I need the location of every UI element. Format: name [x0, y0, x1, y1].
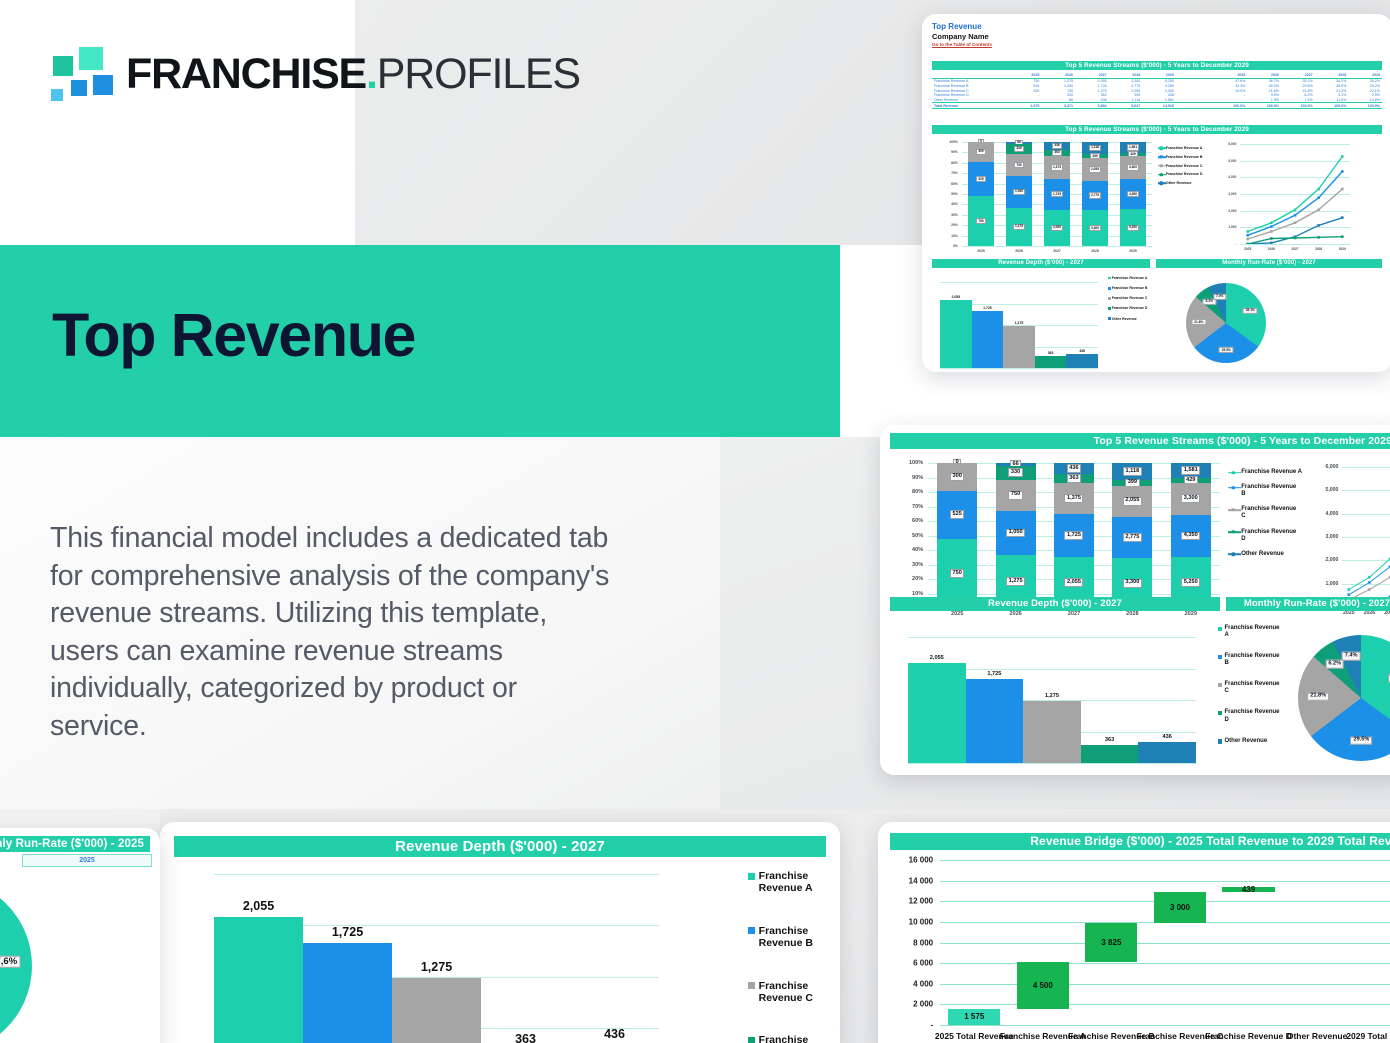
legend-item: Franchise Revenue C — [1108, 296, 1152, 300]
legend-swatch-icon — [1218, 711, 1222, 715]
legend-item: Other Revenue — [1228, 551, 1302, 558]
bar-column: 2,055 — [940, 282, 972, 368]
segment-value-label: 3,300 — [1089, 225, 1102, 231]
x-axis-label: 2027 — [1053, 246, 1061, 253]
stacked-bar-column: 663307501,0501,2752026 — [996, 463, 1036, 608]
bar-value-label: 2,055 — [243, 899, 274, 913]
bar-value-label: 1,725 — [987, 671, 1001, 677]
segment-value-label: 1,725 — [1064, 531, 1083, 540]
legend-label: Franchise Revenue B — [1166, 155, 1203, 159]
bar-value-label: 436 — [1163, 734, 1172, 740]
bar-column: 2,055 — [908, 637, 966, 763]
brand-wordmark: FRANCHISE.PROFILES — [126, 44, 580, 104]
waterfall-bar-value: 1 575 — [948, 1009, 1000, 1025]
segment-value-label: 1,050 — [1013, 189, 1026, 195]
x-axis-label: 2025 — [977, 246, 985, 253]
cell-percent: 100.0% — [1214, 103, 1248, 109]
segment-value-label: 1,118 — [1089, 145, 1102, 151]
legend-item: Franchise Revenue A — [748, 870, 836, 895]
bar-value-label: 1,275 — [1015, 321, 1024, 325]
legend-item: Franchise Revenue D — [1218, 709, 1282, 723]
legend-swatch-icon — [748, 927, 755, 934]
segment-value-label: 436 — [1067, 464, 1081, 473]
waterfall-column: 3 825Franchise Revenue B — [1077, 860, 1146, 1025]
legend-label: Other Revenue — [1112, 317, 1137, 321]
legend-item: Other Revenue — [1158, 181, 1210, 185]
legend-label: Franchise Revenue C — [1224, 681, 1282, 695]
bar-column: 363 — [1035, 282, 1067, 368]
segment-value-label: 2,775 — [1123, 533, 1142, 542]
segment-value-label: 363 — [1067, 474, 1081, 483]
segment-value-label: 363 — [1052, 150, 1062, 156]
legend-label: Franchise Revenue D — [1224, 709, 1282, 723]
revenue-depth-chart-large: 2,0551,7251,275363436 — [214, 874, 659, 1043]
segment-value-label: 750 — [1008, 491, 1022, 500]
pie-slice-label: 35.1% — [1243, 308, 1258, 314]
pie-slice-label: 6.2% — [1325, 660, 1344, 669]
legend-item: Other Revenue — [1218, 738, 1282, 745]
bar-column: 1,275 — [1023, 637, 1081, 763]
segment-value-label: 750 — [950, 569, 964, 578]
pie-slice-label: 21.8% — [1307, 692, 1329, 701]
legend-label: Franchise Revenue D — [1166, 172, 1203, 176]
bar-column: 1,275 — [392, 874, 481, 1043]
runrate-pie-main: 35.1%29.5%21.8%6.2%7.4% — [1288, 627, 1390, 772]
cell-percent: 100.0% — [1348, 103, 1382, 109]
waterfall-x-label: 2029 Total Revenue — [1346, 1025, 1390, 1041]
cell-percent: 100.0% — [1247, 103, 1281, 109]
segment-value-label: 330 — [1014, 146, 1024, 152]
stacked-bar-chart-main: 100%90%80%70%60%50%40%30%20%10%0% 030052… — [928, 463, 1220, 608]
dashboard-title: Top Revenue — [932, 22, 1382, 32]
dashboard-screenshot-card[interactable]: Top Revenue Company Name Go to the Table… — [922, 14, 1390, 372]
legend-swatch-icon — [1108, 287, 1111, 290]
cell-value: 14,919 — [1142, 103, 1176, 109]
bar-value-label: 2,055 — [952, 295, 961, 299]
bar-column: 1,725 — [972, 282, 1004, 368]
background-panel-top-left — [0, 0, 355, 245]
stacked-bar-column: 03005257502025 — [937, 463, 977, 608]
legend-label: Franchise Revenue A — [1112, 276, 1147, 280]
stacked-bar-column: 1,1183992,0552,7753,3002028 — [1082, 142, 1108, 246]
waterfall-bar-value: 3 000 — [1154, 892, 1206, 923]
bar-column: 363 — [481, 874, 570, 1043]
bar-column: 1,275 — [1003, 282, 1035, 368]
revenue-depth-screenshot-card[interactable]: Revenue Depth ($'000) - 2027 2,0551,7251… — [160, 822, 840, 1043]
legend-label: Franchise Revenue C — [759, 980, 836, 1005]
dashboard-caption-runrate: Monthly Run-Rate ($'000) - 2027 — [1156, 259, 1382, 268]
row-label: Total Revenue — [932, 103, 1008, 109]
legend-swatch-icon — [1218, 739, 1222, 743]
brand-name-bold: FRANCHISE — [126, 50, 366, 98]
legend-swatch-icon — [1218, 627, 1222, 631]
legend-item: Franchise Revenue B — [1158, 155, 1210, 159]
bridge-caption: Revenue Bridge ($'000) - 2025 Total Reve… — [890, 833, 1390, 850]
segment-value-label: 750 — [1014, 162, 1024, 168]
bar-column: 363 — [1081, 637, 1139, 763]
legend-marker-icon — [1228, 506, 1241, 513]
waterfall-column: 2029 Total Revenue — [1351, 860, 1390, 1025]
legend-item: Franchise Revenue D — [1228, 529, 1302, 543]
x-axis-label: 2026 — [1015, 246, 1023, 253]
pie-slice-label: 29.5% — [1219, 347, 1234, 353]
segment-value-label: 3,300 — [1181, 494, 1200, 503]
segment-value-label: 1,275 — [1013, 224, 1026, 230]
description-paragraph: This financial model includes a dedicate… — [50, 520, 620, 746]
waterfall-column: 4 500Franchise Revenue A — [1009, 860, 1078, 1025]
stacked-bar-legend-mini: Franchise Revenue AFranchise Revenue BFr… — [1158, 146, 1210, 186]
segment-value-label: 436 — [1052, 143, 1062, 149]
stacked-bar-column: 663307501,0501,2752026 — [1006, 142, 1032, 246]
legend-label: Other Revenue — [1224, 738, 1267, 745]
legend-item: Franchise Revenue A — [1108, 276, 1152, 280]
revenue-bridge-screenshot-card[interactable]: Revenue Bridge ($'000) - 2025 Total Reve… — [878, 822, 1390, 1043]
bar-value-label: 436 — [604, 1027, 625, 1041]
pie-slice-label: 21.8% — [1191, 319, 1206, 325]
waterfall-x-label: Other Revenue — [1287, 1025, 1347, 1041]
legend-marker-icon — [1228, 469, 1241, 476]
pie-caption: Monthly Run-Rate ($'000) - 2025 — [0, 836, 150, 852]
revenue-depth-legend-large: Franchise Revenue AFranchise Revenue BFr… — [748, 870, 836, 1043]
brand-name-dot: . — [366, 50, 377, 98]
runrate-pie-large: 47,6%33,3%19,0%0,0%0,0% — [0, 876, 72, 1043]
segment-value-label: 330 — [1008, 468, 1022, 477]
bar-value-label: 363 — [1048, 351, 1054, 355]
bar-column: 2,055 — [214, 874, 303, 1043]
legend-label: Other Revenue — [1166, 181, 1192, 185]
segment-value-label: 3,300 — [1123, 579, 1142, 588]
page-title: Top Revenue — [52, 305, 415, 366]
legend-item: Franchise Revenue D — [1158, 172, 1210, 176]
waterfall-bar-value: 439 — [1222, 887, 1274, 892]
bar-column: 1,725 — [966, 637, 1024, 763]
segment-value-label: 5,250 — [1127, 225, 1140, 231]
legend-item: Franchise Revenue D — [748, 1034, 836, 1043]
legend-swatch-icon — [1218, 655, 1222, 659]
dashboard-caption-streams-chart: Top 5 Revenue Streams ($'000) - 5 Years … — [932, 125, 1382, 134]
legend-label: Franchise Revenue C — [1112, 296, 1148, 300]
legend-label: Franchise Revenue D — [759, 1034, 836, 1043]
waterfall-bar-value: 3 825 — [1085, 923, 1137, 962]
legend-item: Franchise Revenue C — [748, 980, 836, 1005]
cell-percent: 100.0% — [1281, 103, 1315, 109]
depth-caption: Revenue Depth ($'000) - 2027 — [174, 836, 826, 857]
legend-label: Franchise Revenue A — [1224, 625, 1282, 639]
waterfall-column: 3 000Franchise Revenue C — [1146, 860, 1215, 1025]
line-chart-mini: 6,0005,0004,0003,0002,0001,000-202520262… — [1240, 144, 1350, 244]
legend-item: Franchise Revenue A — [1228, 469, 1302, 476]
stacked-bar-chart-mini: 100%90%80%70%60%50%40%30%20%10%0% 030052… — [962, 142, 1152, 246]
revenue-bridge-chart: 16 00014 00012 00010 0008 0006 0004 0002… — [940, 860, 1390, 1025]
legend-swatch-icon — [748, 873, 755, 880]
revenue-depth-chart-main: 2,0551,7251,275363436 — [908, 637, 1196, 763]
legend-swatch-icon — [1108, 297, 1111, 300]
segment-value-label: 5,250 — [1181, 578, 1200, 587]
segment-value-label: 1,581 — [1181, 466, 1200, 475]
bar-value-label: 436 — [1079, 349, 1085, 353]
x-axis-label: 2029 — [1129, 246, 1137, 253]
table-row: Total Revenue1,5753,4715,8549,64714,9191… — [932, 103, 1382, 109]
pie-slice-label: 29.5% — [1350, 737, 1372, 746]
segment-value-label: 300 — [976, 149, 986, 155]
dashboard-caption-streams-table: Top 5 Revenue Streams ($'000) - 5 Years … — [932, 61, 1382, 70]
revenue-depth-chart-mini: 2,0551,7251,275363436 — [940, 282, 1098, 368]
legend-swatch-icon — [1108, 277, 1111, 280]
legend-item: Franchise Revenue C — [1158, 164, 1210, 168]
pie-slice-label: 7.4% — [1213, 293, 1226, 299]
legend-marker-icon — [1228, 529, 1241, 536]
bar-column: 436 — [1066, 282, 1098, 368]
legend-item: Franchise Revenue C — [1218, 681, 1282, 695]
x-axis-label: 2028 — [1091, 246, 1099, 253]
mid-caption-depth: Revenue Depth ($'000) - 2027 — [890, 597, 1220, 611]
legend-marker-icon — [1158, 164, 1166, 168]
legend-marker-icon — [1228, 551, 1241, 558]
bar-column: 1,725 — [303, 874, 392, 1043]
legend-item: Other Revenue — [1108, 317, 1152, 321]
stacked-bar-column: 4363631,3751,7252,0552027 — [1044, 142, 1070, 246]
mid-caption-streams: Top 5 Revenue Streams ($'000) - 5 Years … — [890, 433, 1390, 449]
segment-value-label: 2,775 — [1089, 192, 1102, 198]
revenue-depth-legend-mini: Franchise Revenue AFranchise Revenue BFr… — [1108, 276, 1152, 321]
bar-value-label: 1,725 — [983, 306, 992, 310]
brand-name-thin: PROFILES — [377, 50, 580, 98]
legend-marker-icon — [1158, 146, 1166, 150]
waterfall-column: 1 5752025 Total Revenue — [940, 860, 1009, 1025]
legend-label: Other Revenue — [1241, 551, 1284, 558]
stacked-bar-column: 4363631,3751,7252,0552027 — [1054, 463, 1094, 608]
legend-marker-icon — [1158, 181, 1166, 185]
legend-item: Franchise Revenue B — [748, 925, 836, 950]
legend-label: Franchise Revenue B — [1112, 286, 1148, 290]
pie-slice-label: 7.4% — [1342, 652, 1361, 661]
legend-label: Franchise Revenue A — [759, 870, 836, 895]
segment-value-label: 2,055 — [1089, 166, 1102, 172]
bar-column: 436 — [1138, 637, 1196, 763]
mid-caption-runrate: Monthly Run-Rate ($'000) - 2027 — [1226, 597, 1390, 611]
segment-value-label: 2,055 — [1064, 578, 1083, 587]
legend-item: Franchise Revenue C — [1228, 506, 1302, 520]
legend-label: Franchise Revenue C — [1166, 164, 1203, 168]
stacked-bar-column: 1,1183992,0552,7753,3002028 — [1112, 463, 1152, 608]
legend-swatch-icon — [1108, 307, 1111, 310]
revenue-depth-legend-main: Franchise Revenue AFranchise Revenue BFr… — [1218, 625, 1282, 745]
segment-value-label: 1,275 — [1006, 577, 1025, 586]
brand-logo: FRANCHISE.PROFILES — [48, 44, 538, 106]
legend-label: Franchise Revenue B — [1224, 653, 1282, 667]
waterfall-column: Other Revenue — [1283, 860, 1352, 1025]
dashboard-caption-depth: Revenue Depth ($'000) - 2027 — [932, 259, 1150, 268]
legend-item: Franchise Revenue B — [1218, 653, 1282, 667]
segment-value-label: 2,055 — [1051, 225, 1064, 231]
waterfall-bar-value: 4 500 — [1017, 962, 1069, 1008]
bar-value-label: 363 — [515, 1032, 536, 1043]
legend-label: Franchise Revenue B — [1241, 484, 1302, 498]
segment-value-label: 300 — [950, 473, 964, 482]
revenue-streams-table: 2025 2026 2027 2028 2029 2025 2026 2027 … — [932, 73, 1382, 121]
segment-value-label: 1,118 — [1123, 467, 1142, 476]
legend-label: Franchise Revenue A — [1166, 146, 1202, 150]
segment-value-label: 1,375 — [1051, 164, 1064, 170]
bar-value-label: 1,275 — [1045, 693, 1059, 699]
cell-value: 9,647 — [1109, 103, 1143, 109]
dashboard-subtitle: Company Name — [932, 32, 1382, 41]
runrate-pie-mini: 35.1%29.5%21.8%6.2%7.4% — [1174, 280, 1276, 366]
logo-mark-icon — [48, 46, 114, 104]
legend-marker-icon — [1158, 155, 1166, 159]
legend-label: Franchise Revenue C — [1241, 506, 1302, 520]
legend-item: Franchise Revenue B — [1228, 484, 1302, 498]
legend-label: Franchise Revenue A — [1241, 469, 1302, 476]
stacked-chart-screenshot-card[interactable]: Top 5 Revenue Streams ($'000) - 5 Years … — [880, 425, 1390, 775]
segment-value-label: 2,055 — [1123, 497, 1142, 506]
legend-label: Franchise Revenue D — [1241, 529, 1302, 543]
segment-value-label: 1,725 — [1051, 191, 1064, 197]
legend-swatch-icon — [1218, 683, 1222, 687]
bar-value-label: 2,055 — [930, 655, 944, 661]
legend-item: Franchise Revenue B — [1108, 286, 1152, 290]
legend-marker-icon — [1228, 484, 1241, 491]
stacked-bar-column: 1,5814293,3004,3505,2502029 — [1171, 463, 1211, 608]
legend-swatch-icon — [1108, 317, 1111, 320]
runrate-pie-screenshot-card[interactable]: Monthly Run-Rate ($'000) - 2025 2025 47,… — [0, 828, 160, 1043]
waterfall-column: 439Franchise Revenue D — [1214, 860, 1283, 1025]
pie-slice-label: 47,6% — [0, 955, 20, 968]
segment-value-label: 1,375 — [1064, 494, 1083, 503]
stacked-bar-column: 1,5814293,3004,3505,2502029 — [1120, 142, 1146, 246]
segment-value-label: 1,581 — [1127, 144, 1140, 150]
cell-value: 1,575 — [1008, 103, 1042, 109]
bar-column: 436 — [570, 874, 659, 1043]
segment-value-label: 4,350 — [1181, 532, 1200, 541]
legend-item: Franchise Revenue A — [1218, 625, 1282, 639]
dashboard-toc-link[interactable]: Go to the Table of Contents — [932, 41, 1382, 48]
cell-value: 3,471 — [1041, 103, 1075, 109]
legend-label: Franchise Revenue D — [1112, 306, 1148, 310]
bar-value-label: 1,725 — [332, 925, 363, 939]
segment-value-label: 525 — [976, 176, 986, 182]
waterfall-x-label: Franchise Revenue D — [1205, 1025, 1291, 1041]
legend-label: Franchise Revenue B — [759, 925, 836, 950]
stacked-bar-column: 03005257502025 — [968, 142, 994, 246]
legend-item: Franchise Revenue D — [1108, 306, 1152, 310]
cell-percent: 100.0% — [1315, 103, 1349, 109]
segment-value-label: 750 — [976, 218, 986, 224]
legend-item: Franchise Revenue A — [1158, 146, 1210, 150]
line-chart-main: 6,0005,0004,0003,0002,0001,000-202520262… — [1342, 467, 1390, 607]
segment-value-label: 1,050 — [1006, 529, 1025, 538]
cell-value: 5,854 — [1075, 103, 1109, 109]
legend-swatch-icon — [748, 982, 755, 989]
legend-swatch-icon — [748, 1037, 755, 1043]
bar-value-label: 363 — [1105, 737, 1114, 743]
legend-marker-icon — [1158, 172, 1166, 176]
stacked-bar-legend-main: Franchise Revenue AFranchise Revenue BFr… — [1228, 469, 1302, 558]
pie-year-tab[interactable]: 2025 — [22, 854, 152, 867]
bar-value-label: 1,275 — [421, 960, 452, 974]
segment-value-label: 4,350 — [1127, 191, 1140, 197]
segment-value-label: 3,300 — [1127, 164, 1140, 170]
segment-value-label: 525 — [950, 510, 964, 519]
